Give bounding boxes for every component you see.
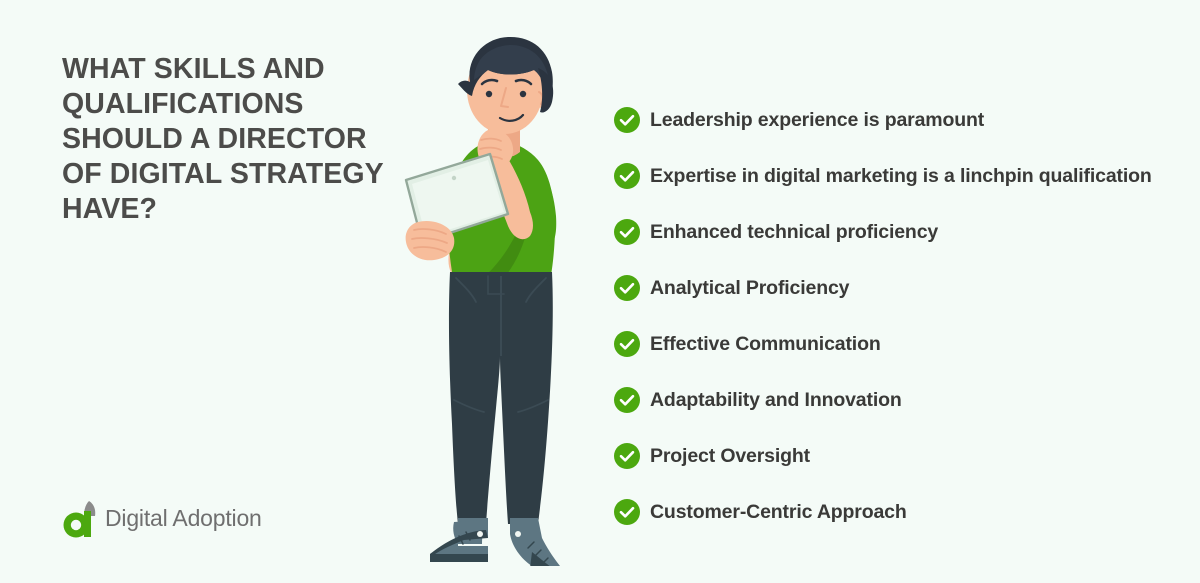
check-circle-icon — [613, 274, 641, 302]
check-circle-icon — [613, 330, 641, 358]
list-item-label: Analytical Proficiency — [650, 277, 849, 300]
list-item-label: Enhanced technical proficiency — [650, 221, 938, 244]
list-item-label: Effective Communication — [650, 333, 881, 356]
page-title: WHAT SKILLS AND QUALIFICATIONS SHOULD A … — [62, 52, 402, 227]
thinking-man-with-tablet-illustration — [392, 26, 612, 566]
check-circle-icon — [613, 162, 641, 190]
check-circle-icon — [613, 106, 641, 134]
list-item: Analytical Proficiency — [613, 274, 1193, 302]
brand-logo: Digital Adoption — [62, 497, 262, 539]
list-item-label: Expertise in digital marketing is a linc… — [650, 165, 1152, 188]
list-item: Expertise in digital marketing is a linc… — [613, 162, 1193, 190]
list-item-label: Leadership experience is paramount — [650, 109, 984, 132]
check-circle-icon — [613, 386, 641, 414]
skills-list: Leadership experience is paramount Exper… — [613, 106, 1193, 526]
list-item-label: Project Oversight — [650, 445, 810, 468]
list-item: Enhanced technical proficiency — [613, 218, 1193, 246]
brand-logo-text: Digital Adoption — [105, 505, 262, 532]
list-item-label: Customer-Centric Approach — [650, 501, 907, 524]
digital-adoption-logo-mark — [62, 497, 98, 539]
list-item: Leadership experience is paramount — [613, 106, 1193, 134]
infographic-canvas: WHAT SKILLS AND QUALIFICATIONS SHOULD A … — [0, 0, 1200, 583]
list-item: Customer-Centric Approach — [613, 498, 1193, 526]
list-item-label: Adaptability and Innovation — [650, 389, 902, 412]
check-circle-icon — [613, 498, 641, 526]
list-item: Project Oversight — [613, 442, 1193, 470]
list-item: Effective Communication — [613, 330, 1193, 358]
check-circle-icon — [613, 442, 641, 470]
list-item: Adaptability and Innovation — [613, 386, 1193, 414]
check-circle-icon — [613, 218, 641, 246]
